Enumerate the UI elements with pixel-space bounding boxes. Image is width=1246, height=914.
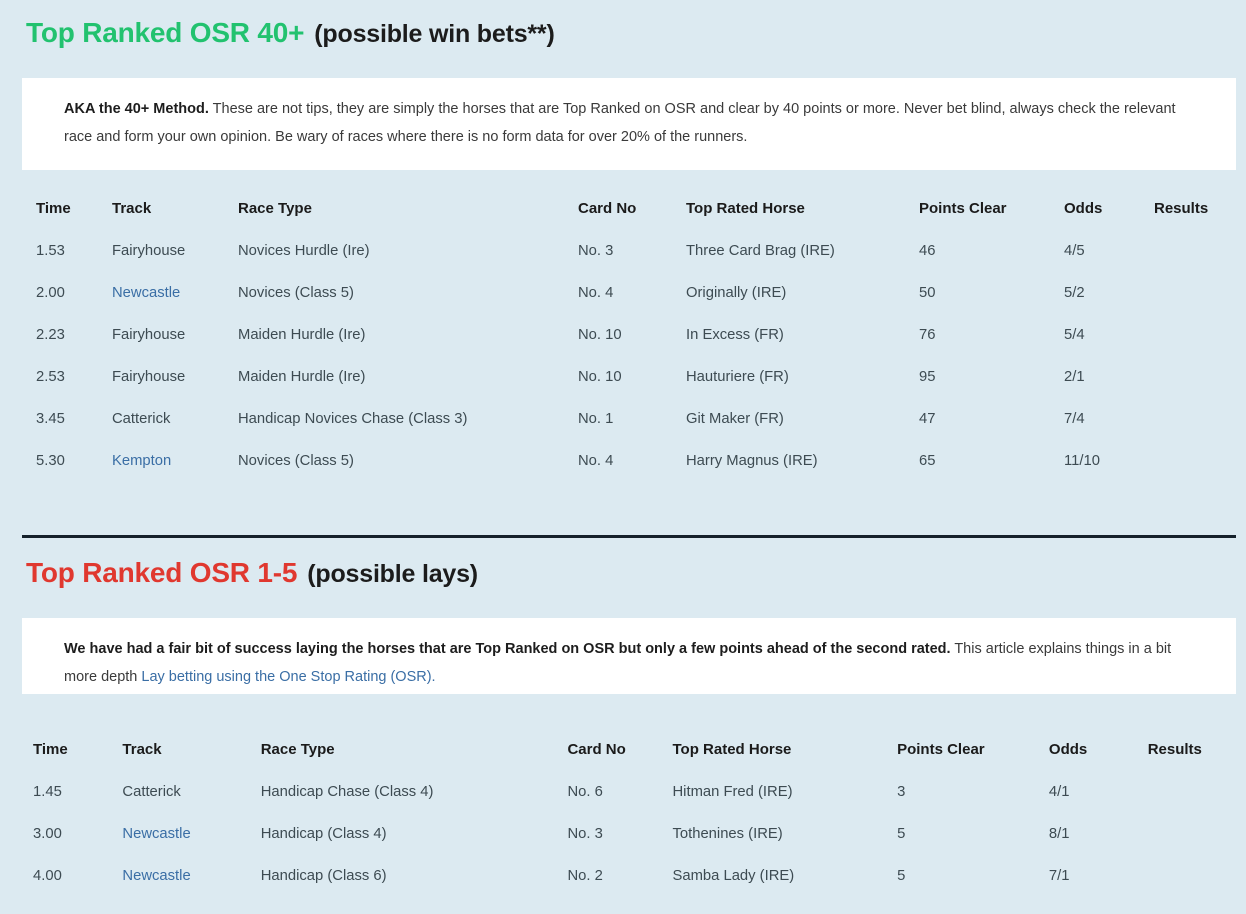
cell-card-no: No. 2 — [567, 855, 672, 897]
table-row: 2.53 Fairyhouse Maiden Hurdle (Ire) No. … — [36, 356, 1236, 398]
section-heading-top-ranked-osr-40plus: Top Ranked OSR 40+(possible win bets**) — [26, 18, 555, 49]
column-header-points-clear: Points Clear — [919, 200, 1064, 230]
column-header-results: Results — [1148, 741, 1233, 771]
cell-results — [1154, 272, 1236, 314]
table-row: 4.00 Newcastle Handicap (Class 6) No. 2 … — [33, 855, 1233, 897]
column-header-race-type: Race Type — [261, 741, 568, 771]
track-link[interactable]: Newcastle — [122, 868, 190, 884]
note-card-40plus: AKA the 40+ Method. These are not tips, … — [22, 78, 1236, 170]
cell-race-type: Maiden Hurdle (Ire) — [238, 314, 578, 356]
cell-points-clear: 5 — [897, 855, 1049, 897]
note-card-1to5: We have had a fair bit of success laying… — [22, 618, 1236, 694]
table-row: 3.00 Newcastle Handicap (Class 4) No. 3 … — [33, 813, 1233, 855]
table-row: 2.00 Newcastle Novices (Class 5) No. 4 O… — [36, 272, 1236, 314]
cell-card-no: No. 3 — [567, 813, 672, 855]
cell-track: Fairyhouse — [112, 356, 238, 398]
cell-race-type: Novices Hurdle (Ire) — [238, 230, 578, 272]
cell-results — [1154, 440, 1236, 482]
cell-track-link[interactable]: Newcastle — [112, 272, 238, 314]
cell-odds: 2/1 — [1064, 356, 1154, 398]
column-header-odds: Odds — [1049, 741, 1148, 771]
cell-race-type: Novices (Class 5) — [238, 272, 578, 314]
cell-points-clear: 3 — [897, 771, 1049, 813]
table-header-row: Time Track Race Type Card No Top Rated H… — [33, 741, 1233, 771]
column-header-card-no: Card No — [567, 741, 672, 771]
cell-points-clear: 50 — [919, 272, 1064, 314]
race-table-body-1to5: 1.45 Catterick Handicap Chase (Class 4) … — [33, 771, 1233, 897]
cell-card-no: No. 1 — [578, 398, 686, 440]
cell-time: 1.45 — [33, 771, 122, 813]
section-heading-secondary-40plus: (possible win bets**) — [314, 20, 554, 48]
note-lead-1to5: We have had a fair bit of success laying… — [64, 641, 951, 657]
cell-horse: Hitman Fred (IRE) — [672, 771, 897, 813]
cell-track: Catterick — [112, 398, 238, 440]
table-row: 1.53 Fairyhouse Novices Hurdle (Ire) No.… — [36, 230, 1236, 272]
cell-horse: Harry Magnus (IRE) — [686, 440, 919, 482]
cell-track: Catterick — [122, 771, 260, 813]
table-row: 2.23 Fairyhouse Maiden Hurdle (Ire) No. … — [36, 314, 1236, 356]
cell-odds: 5/2 — [1064, 272, 1154, 314]
column-header-card-no: Card No — [578, 200, 686, 230]
cell-track-link[interactable]: Newcastle — [122, 855, 260, 897]
cell-time: 1.53 — [36, 230, 112, 272]
cell-horse: Three Card Brag (IRE) — [686, 230, 919, 272]
column-header-top-rated-horse: Top Rated Horse — [686, 200, 919, 230]
cell-race-type: Handicap Chase (Class 4) — [261, 771, 568, 813]
cell-horse: Samba Lady (IRE) — [672, 855, 897, 897]
cell-track: Fairyhouse — [112, 230, 238, 272]
cell-time: 2.53 — [36, 356, 112, 398]
cell-race-type: Novices (Class 5) — [238, 440, 578, 482]
cell-time: 5.30 — [36, 440, 112, 482]
column-header-time: Time — [36, 200, 112, 230]
section-divider — [22, 535, 1236, 538]
table-header-row: Time Track Race Type Card No Top Rated H… — [36, 200, 1236, 230]
column-header-top-rated-horse: Top Rated Horse — [672, 741, 897, 771]
cell-odds: 8/1 — [1049, 813, 1148, 855]
cell-points-clear: 5 — [897, 813, 1049, 855]
table-row: 1.45 Catterick Handicap Chase (Class 4) … — [33, 771, 1233, 813]
section-heading-primary-40plus: Top Ranked OSR 40+ — [26, 17, 304, 48]
cell-results — [1148, 771, 1233, 813]
cell-odds: 7/4 — [1064, 398, 1154, 440]
race-table-body-40plus: 1.53 Fairyhouse Novices Hurdle (Ire) No.… — [36, 230, 1236, 482]
cell-track-link[interactable]: Kempton — [112, 440, 238, 482]
cell-odds: 4/5 — [1064, 230, 1154, 272]
cell-time: 3.00 — [33, 813, 122, 855]
cell-points-clear: 65 — [919, 440, 1064, 482]
cell-time: 2.00 — [36, 272, 112, 314]
column-header-race-type: Race Type — [238, 200, 578, 230]
cell-time: 2.23 — [36, 314, 112, 356]
cell-points-clear: 95 — [919, 356, 1064, 398]
section-heading-primary-1to5: Top Ranked OSR 1-5 — [26, 557, 297, 588]
cell-horse: Git Maker (FR) — [686, 398, 919, 440]
cell-race-type: Handicap (Class 6) — [261, 855, 568, 897]
note-lead-40plus: AKA the 40+ Method. — [64, 101, 209, 117]
cell-card-no: No. 4 — [578, 272, 686, 314]
track-link[interactable]: Kempton — [112, 453, 171, 469]
page-root: Top Ranked OSR 40+(possible win bets**) … — [0, 0, 1246, 914]
cell-card-no: No. 10 — [578, 356, 686, 398]
cell-card-no: No. 6 — [567, 771, 672, 813]
cell-race-type: Handicap (Class 4) — [261, 813, 568, 855]
cell-card-no: No. 3 — [578, 230, 686, 272]
cell-results — [1154, 356, 1236, 398]
section-heading-top-ranked-osr-1-5: Top Ranked OSR 1-5(possible lays) — [26, 558, 478, 589]
cell-horse: Hauturiere (FR) — [686, 356, 919, 398]
column-header-odds: Odds — [1064, 200, 1154, 230]
race-table-40plus: Time Track Race Type Card No Top Rated H… — [36, 200, 1236, 482]
cell-horse: Tothenines (IRE) — [672, 813, 897, 855]
column-header-time: Time — [33, 741, 122, 771]
lay-betting-osr-link[interactable]: Lay betting using the One Stop Rating (O… — [141, 669, 435, 685]
cell-points-clear: 46 — [919, 230, 1064, 272]
note-body-40plus: These are not tips, they are simply the … — [64, 101, 1176, 145]
cell-results — [1148, 855, 1233, 897]
column-header-points-clear: Points Clear — [897, 741, 1049, 771]
column-header-track: Track — [112, 200, 238, 230]
cell-odds: 4/1 — [1049, 771, 1148, 813]
cell-time: 4.00 — [33, 855, 122, 897]
table-row: 3.45 Catterick Handicap Novices Chase (C… — [36, 398, 1236, 440]
cell-track: Fairyhouse — [112, 314, 238, 356]
cell-odds: 11/10 — [1064, 440, 1154, 482]
cell-race-type: Maiden Hurdle (Ire) — [238, 356, 578, 398]
cell-horse: Originally (IRE) — [686, 272, 919, 314]
cell-results — [1154, 314, 1236, 356]
cell-odds: 5/4 — [1064, 314, 1154, 356]
track-link[interactable]: Newcastle — [122, 826, 190, 842]
cell-odds: 7/1 — [1049, 855, 1148, 897]
race-table-1to5: Time Track Race Type Card No Top Rated H… — [33, 741, 1233, 897]
cell-card-no: No. 4 — [578, 440, 686, 482]
cell-card-no: No. 10 — [578, 314, 686, 356]
cell-results — [1154, 230, 1236, 272]
cell-race-type: Handicap Novices Chase (Class 3) — [238, 398, 578, 440]
column-header-track: Track — [122, 741, 260, 771]
cell-results — [1154, 398, 1236, 440]
cell-time: 3.45 — [36, 398, 112, 440]
column-header-results: Results — [1154, 200, 1236, 230]
track-link[interactable]: Newcastle — [112, 285, 180, 301]
cell-track-link[interactable]: Newcastle — [122, 813, 260, 855]
cell-points-clear: 76 — [919, 314, 1064, 356]
cell-points-clear: 47 — [919, 398, 1064, 440]
cell-horse: In Excess (FR) — [686, 314, 919, 356]
cell-results — [1148, 813, 1233, 855]
section-heading-secondary-1to5: (possible lays) — [307, 560, 478, 588]
table-row: 5.30 Kempton Novices (Class 5) No. 4 Har… — [36, 440, 1236, 482]
